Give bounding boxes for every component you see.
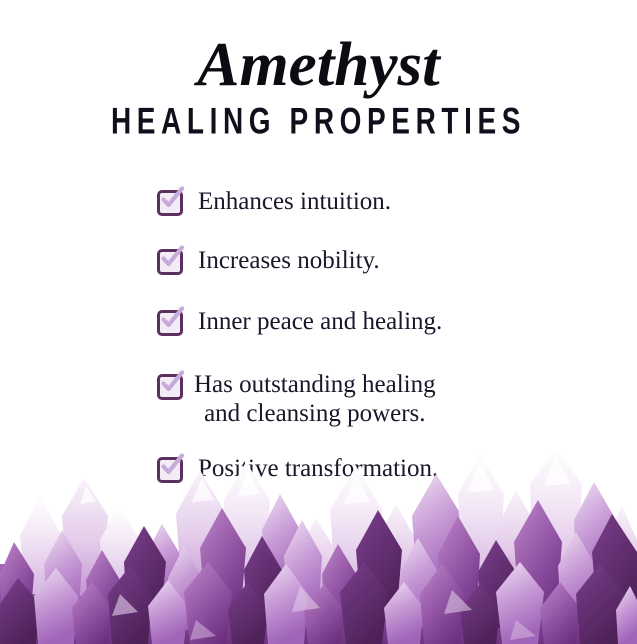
healing-properties-list: Enhances intuition. Increases nobility. … [0, 186, 637, 484]
list-item: Has outstanding healing and cleansing po… [0, 370, 637, 429]
amethyst-healing-properties-poster: Amethyst HEALING PROPERTIES Enhances int… [0, 0, 637, 644]
poster-header: Amethyst HEALING PROPERTIES [0, 34, 637, 138]
crystal-illustration [0, 444, 637, 644]
checkmark-glyph [159, 245, 185, 271]
page-title: Amethyst [0, 34, 637, 96]
page-subtitle: HEALING PROPERTIES [64, 103, 574, 140]
checked-checkbox-icon [157, 249, 183, 275]
checked-checkbox-icon [157, 190, 183, 216]
list-item-label: Increases nobility. [198, 245, 380, 277]
list-item-label: Enhances intuition. [198, 186, 391, 218]
list-item-label: Has outstanding healing and cleansing po… [194, 370, 436, 429]
amethyst-crystal-cluster-image [0, 444, 637, 644]
list-item: Enhances intuition. [0, 186, 637, 218]
list-item: Inner peace and healing. [0, 306, 637, 338]
checked-checkbox-icon [157, 374, 183, 400]
checkmark-glyph [159, 306, 185, 332]
checked-checkbox-icon [157, 310, 183, 336]
list-item: Increases nobility. [0, 245, 637, 277]
list-item-label: Inner peace and healing. [198, 306, 442, 338]
checkmark-glyph [159, 370, 185, 396]
checkmark-glyph [159, 186, 185, 212]
